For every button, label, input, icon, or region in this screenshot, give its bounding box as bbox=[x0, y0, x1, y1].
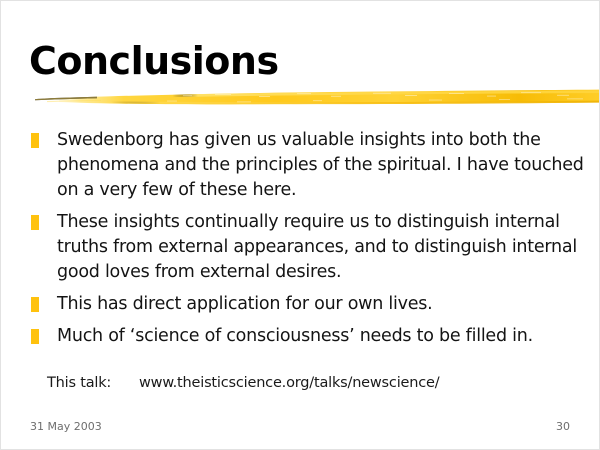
footer-date: 31 May 2003 bbox=[30, 420, 102, 433]
list-item: This has direct application for our own … bbox=[31, 292, 587, 317]
square-bullet-icon bbox=[31, 215, 39, 230]
bullet-list: Swedenborg has given us valuable insight… bbox=[31, 128, 587, 356]
brush-wisp-left bbox=[35, 97, 97, 100]
list-item: Much of ‘science of consciousness’ needs… bbox=[31, 324, 587, 349]
list-item: Swedenborg has given us valuable insight… bbox=[31, 128, 587, 203]
yellow-brush-stroke bbox=[1, 83, 600, 111]
slide-canvas: Conclusions bbox=[0, 0, 600, 450]
footer-page-number: 30 bbox=[556, 420, 570, 433]
brush-highlight bbox=[97, 90, 600, 98]
square-bullet-icon bbox=[31, 133, 39, 148]
page-title: Conclusions bbox=[29, 42, 279, 80]
bullet-text: These insights continually require us to… bbox=[57, 210, 587, 285]
bullet-text: This has direct application for our own … bbox=[57, 292, 587, 317]
bullet-text: Much of ‘science of consciousness’ needs… bbox=[57, 324, 587, 349]
talk-url-link[interactable]: www.theisticscience.org/talks/newscience… bbox=[139, 375, 439, 391]
talk-reference: This talk:www.theisticscience.org/talks/… bbox=[47, 375, 439, 391]
square-bullet-icon bbox=[31, 297, 39, 312]
list-item: These insights continually require us to… bbox=[31, 210, 587, 285]
brush-stroke-svg bbox=[1, 83, 600, 111]
brush-texture bbox=[151, 92, 583, 102]
brush-body bbox=[59, 90, 600, 105]
brush-wisp-left-2 bbox=[47, 100, 101, 102]
talk-label: This talk: bbox=[47, 375, 139, 391]
bullet-text: Swedenborg has given us valuable insight… bbox=[57, 128, 587, 203]
square-bullet-icon bbox=[31, 329, 39, 344]
brush-shadow bbox=[111, 101, 600, 105]
